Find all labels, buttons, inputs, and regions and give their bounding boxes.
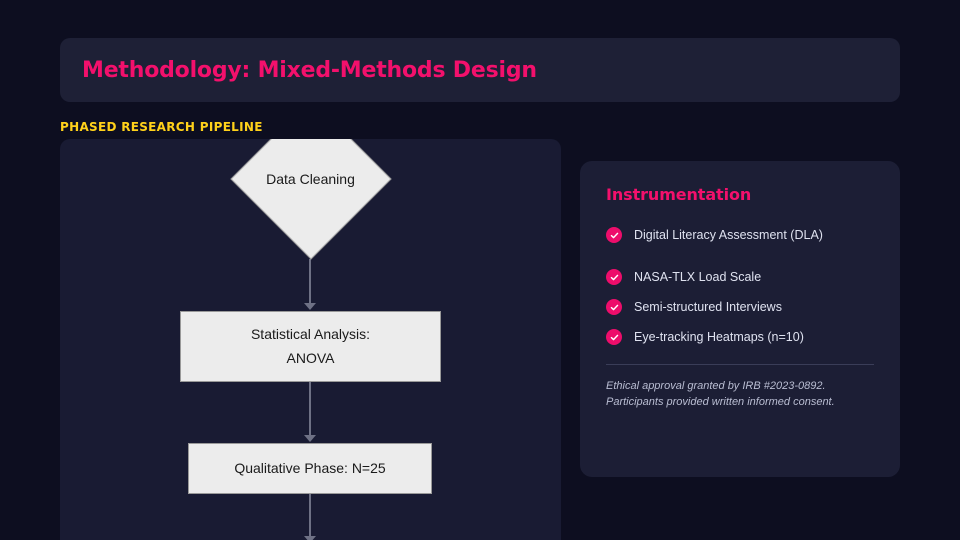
flow-arrowhead-top bbox=[304, 303, 316, 310]
ethics-footnote: Ethical approval granted by IRB #2023-08… bbox=[606, 379, 874, 411]
flowchart-canvas: Data Cleaning Statistical Analysis: ANOV… bbox=[60, 139, 561, 540]
instrumentation-panel: Instrumentation Digital Literacy Assessm… bbox=[580, 161, 900, 477]
header-card: Methodology: Mixed-Methods Design bbox=[60, 38, 900, 102]
check-circle-icon bbox=[606, 299, 622, 315]
flow-arrowhead-middle bbox=[304, 435, 316, 442]
list-item: Semi-structured Interviews bbox=[606, 292, 874, 322]
instrumentation-title: Instrumentation bbox=[606, 185, 874, 204]
flow-connector-bottom bbox=[309, 494, 311, 538]
list-item-label: NASA-TLX Load Scale bbox=[634, 270, 761, 284]
list-item-label: Eye-tracking Heatmaps (n=10) bbox=[634, 330, 804, 344]
list-item: NASA-TLX Load Scale bbox=[606, 262, 874, 292]
flow-node-label-line2: ANOVA bbox=[287, 347, 335, 370]
flow-node-label: Data Cleaning bbox=[230, 139, 391, 259]
flowchart-panel: Data Cleaning Statistical Analysis: ANOV… bbox=[60, 139, 561, 540]
flow-connector-middle bbox=[309, 382, 311, 437]
check-circle-icon bbox=[606, 269, 622, 285]
ethics-footnote-line1: Ethical approval granted by IRB #2023-08… bbox=[606, 379, 874, 395]
flow-node-statistical-analysis[interactable]: Statistical Analysis: ANOVA bbox=[180, 311, 441, 382]
check-circle-icon bbox=[606, 227, 622, 243]
ethics-footnote-line2: Participants provided written informed c… bbox=[606, 395, 874, 411]
page-title: Methodology: Mixed-Methods Design bbox=[82, 58, 537, 83]
flow-node-data-cleaning[interactable]: Data Cleaning bbox=[230, 139, 391, 259]
list-item-label: Semi-structured Interviews bbox=[634, 300, 782, 314]
flow-node-label-line1: Statistical Analysis: bbox=[251, 323, 370, 346]
check-circle-icon bbox=[606, 329, 622, 345]
list-item: Digital Literacy Assessment (DLA) bbox=[606, 220, 874, 250]
flow-node-label: Qualitative Phase: N=25 bbox=[234, 457, 385, 480]
flow-connector-top bbox=[309, 259, 311, 305]
divider bbox=[606, 364, 874, 365]
list-item: Eye-tracking Heatmaps (n=10) bbox=[606, 322, 874, 352]
list-item-label: Digital Literacy Assessment (DLA) bbox=[634, 228, 823, 242]
section-label: PHASED RESEARCH PIPELINE bbox=[60, 120, 263, 134]
flow-arrowhead-bottom bbox=[304, 536, 316, 540]
instrumentation-list: Digital Literacy Assessment (DLA) NASA-T… bbox=[606, 220, 874, 352]
flow-node-qualitative-phase[interactable]: Qualitative Phase: N=25 bbox=[188, 443, 432, 494]
